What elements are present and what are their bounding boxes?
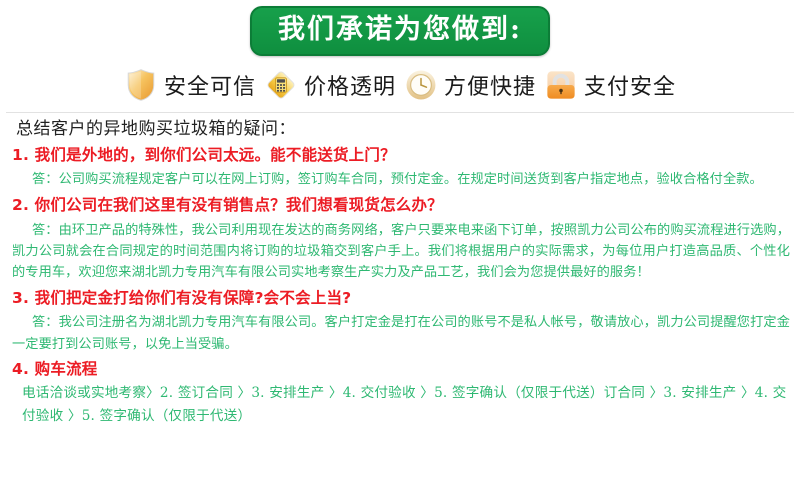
faq-item-3: 3. 我们把定金打给你们有没有保障?会不会上当? 答：我公司注册名为湖北凯力专用… xyxy=(6,286,794,358)
lock-icon xyxy=(544,68,578,102)
faq-question-1: 1. 我们是外地的，到你们公司太远。能不能送货上门？ xyxy=(6,143,794,168)
feature-item-price: 价格透明 xyxy=(264,68,396,102)
promise-banner-title: 我们承诺为您做到: xyxy=(250,6,550,56)
faq-content: 总结客户的异地购买垃圾箱的疑问： 1. 我们是外地的，到你们公司太远。能不能送货… xyxy=(0,102,800,428)
faq-answer-2: 答：由环卫产品的特殊性，我公司利用现在发达的商务网络，客户只要来电来函下订单，按… xyxy=(6,218,794,286)
purchase-flow-title: 4. 购车流程 xyxy=(6,357,794,382)
calculator-diamond-icon xyxy=(264,68,298,102)
feature-item-payment: 支付安全 xyxy=(544,68,676,102)
purchase-flow-section: 4. 购车流程 电话洽谈或实地考察〉2. 签订合同 〉3. 安排生产 〉4. 交… xyxy=(6,357,794,428)
faq-question-2: 2. 你们公司在我们这里有没有销售点？我们想看现货怎么办？ xyxy=(6,193,794,218)
clock-icon xyxy=(404,68,438,102)
feature-label-convenience: 方便快捷 xyxy=(444,69,536,101)
feature-item-security: 安全可信 xyxy=(124,68,256,102)
feature-item-convenience: 方便快捷 xyxy=(404,68,536,102)
faq-item-1: 1. 我们是外地的，到你们公司太远。能不能送货上门？ 答：公司购买流程规定客户可… xyxy=(6,143,794,193)
faq-question-3: 3. 我们把定金打给你们有没有保障?会不会上当? xyxy=(6,286,794,311)
page-title: 总结客户的异地购买垃圾箱的疑问： xyxy=(6,117,794,143)
faq-answer-3: 答：我公司注册名为湖北凯力专用汽车有限公司。客户打定金是打在公司的账号不是私人帐… xyxy=(6,310,794,357)
feature-label-payment: 支付安全 xyxy=(584,69,676,101)
feature-list: 安全可信 xyxy=(0,68,800,102)
divider xyxy=(6,112,794,113)
promise-header: 我们承诺为您做到: xyxy=(0,0,800,56)
shield-icon xyxy=(124,68,158,102)
purchase-flow-steps: 电话洽谈或实地考察〉2. 签订合同 〉3. 安排生产 〉4. 交付验收 〉5. … xyxy=(6,382,794,428)
faq-item-2: 2. 你们公司在我们这里有没有销售点？我们想看现货怎么办？ 答：由环卫产品的特殊… xyxy=(6,193,794,286)
faq-answer-1: 答：公司购买流程规定客户可以在网上订购，签订购车合同，预付定金。在规定时间送货到… xyxy=(6,167,794,192)
feature-label-security: 安全可信 xyxy=(164,69,256,101)
feature-label-price: 价格透明 xyxy=(304,69,396,101)
